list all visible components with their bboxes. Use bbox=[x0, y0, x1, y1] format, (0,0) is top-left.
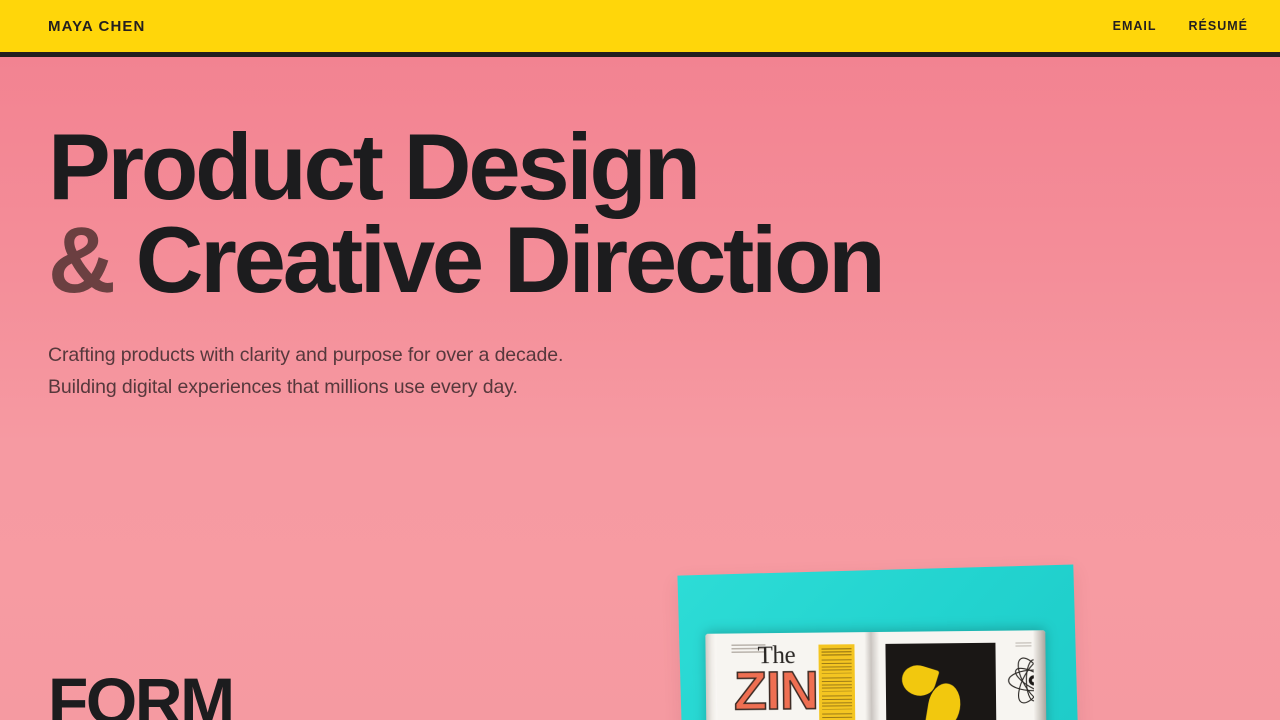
magazine-black-artwork-panel bbox=[885, 643, 996, 720]
nav-link-email[interactable]: EMAIL bbox=[1113, 19, 1157, 33]
nav-link-resume[interactable]: RÉSUMÉ bbox=[1189, 19, 1248, 33]
site-header: MAYA CHEN EMAIL RÉSUMÉ bbox=[0, 0, 1280, 57]
magazine-page-left: The ZINE bbox=[705, 632, 872, 720]
magazine-yellow-sidebar bbox=[818, 644, 855, 720]
headline-ampersand: & bbox=[48, 207, 113, 312]
hero-section: Product Design & Creative Direction Craf… bbox=[48, 120, 883, 403]
brand-wordmark[interactable]: MAYA CHEN bbox=[48, 18, 145, 35]
hero-subhead: Crafting products with clarity and purpo… bbox=[48, 340, 883, 403]
magazine-sidebar-text-lines bbox=[822, 677, 852, 691]
magazine-page-number-lines bbox=[1015, 642, 1031, 648]
headline-line-2: & Creative Direction bbox=[48, 213, 883, 306]
primary-nav: EMAIL RÉSUMÉ bbox=[1113, 19, 1248, 33]
showcase-image: The ZINE bbox=[672, 556, 1092, 720]
headline-line-2-rest: Creative Direction bbox=[136, 207, 883, 312]
magazine-spread: The ZINE bbox=[705, 630, 1046, 720]
atom-diagram-icon bbox=[1006, 652, 1047, 709]
magazine-sidebar-text-lines bbox=[822, 695, 852, 709]
magazine-sidebar-text-lines bbox=[822, 659, 852, 673]
subhead-line-2: Building digital experiences that millio… bbox=[48, 372, 883, 404]
magazine-sidebar-heading-lines bbox=[821, 648, 851, 656]
headline-line-1: Product Design bbox=[48, 120, 883, 213]
subhead-line-1: Crafting products with clarity and purpo… bbox=[48, 340, 883, 372]
page-title: Product Design & Creative Direction bbox=[48, 120, 883, 306]
section-heading-form: FORM bbox=[48, 668, 233, 720]
headline-line-2-text bbox=[113, 207, 136, 312]
magazine-sidebar-text-lines bbox=[822, 713, 852, 720]
magazine-page-right bbox=[871, 630, 1046, 720]
page-background: MAYA CHEN EMAIL RÉSUMÉ Product Design & … bbox=[0, 0, 1280, 720]
